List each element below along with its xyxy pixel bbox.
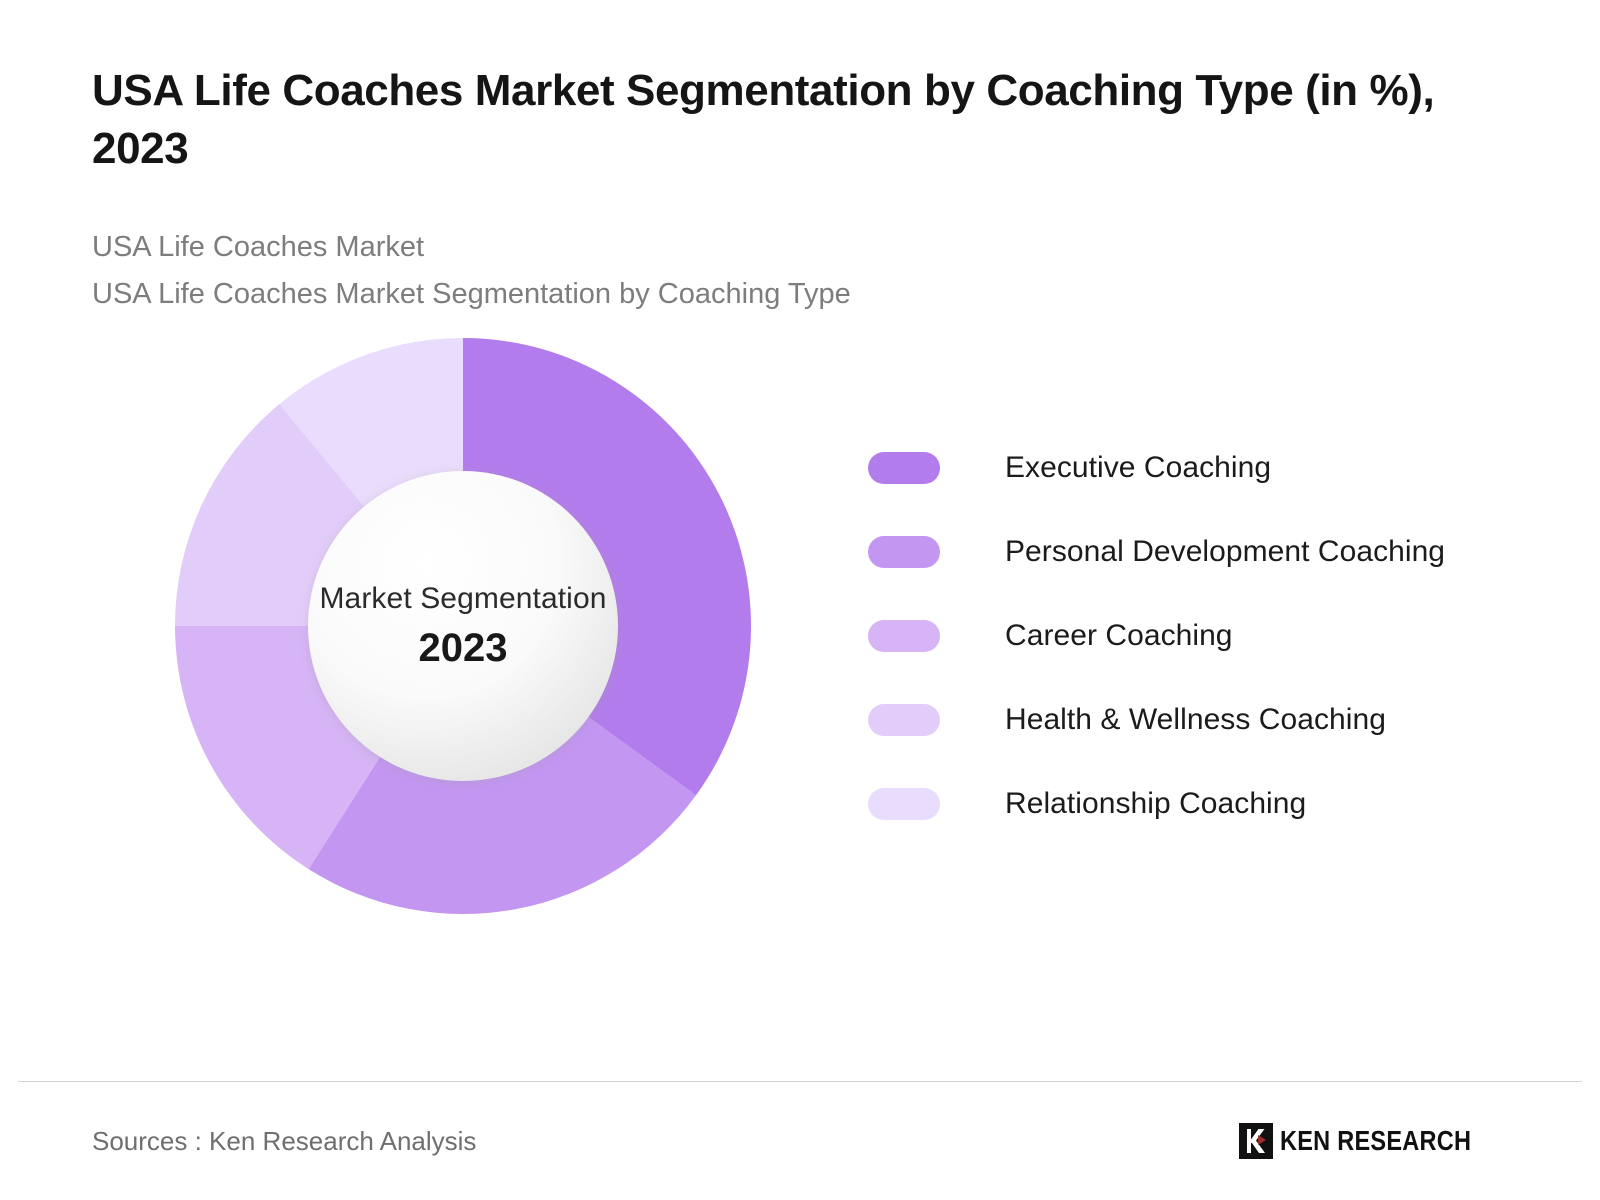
legend-label: Career Coaching — [1005, 619, 1233, 653]
page-title: USA Life Coaches Market Segmentation by … — [92, 62, 1492, 178]
legend-label: Executive Coaching — [1005, 451, 1271, 485]
logo-text: KEN RESEARCH — [1280, 1125, 1471, 1157]
legend-swatch-icon — [868, 452, 940, 484]
legend-label: Relationship Coaching — [1005, 787, 1306, 821]
legend-swatch-icon — [868, 704, 940, 736]
legend-swatch-icon — [868, 620, 940, 652]
legend-swatch-icon — [868, 536, 940, 568]
chart-page: USA Life Coaches Market Segmentation by … — [0, 0, 1600, 1200]
subtitle-line-1: USA Life Coaches Market — [92, 224, 1510, 271]
legend-swatch-icon — [868, 788, 940, 820]
donut-svg: Executive Coaching: 35%Personal Developm… — [175, 338, 751, 914]
header: USA Life Coaches Market Segmentation by … — [0, 0, 1600, 318]
footer: Sources : Ken Research Analysis KEN RESE… — [0, 1082, 1600, 1200]
subtitle-block: USA Life Coaches Market USA Life Coaches… — [92, 224, 1510, 318]
ken-research-logo: KEN RESEARCH — [1239, 1123, 1508, 1159]
chart-legend: Executive CoachingPersonal Development C… — [868, 426, 1445, 846]
legend-item[interactable]: Relationship Coaching — [868, 762, 1445, 846]
subtitle-line-2: USA Life Coaches Market Segmentation by … — [92, 271, 1510, 318]
legend-item[interactable]: Executive Coaching — [868, 426, 1445, 510]
logo-mark-svg — [1239, 1123, 1273, 1159]
sources-text: Sources : Ken Research Analysis — [92, 1126, 476, 1157]
legend-item[interactable]: Career Coaching — [868, 594, 1445, 678]
legend-label: Personal Development Coaching — [1005, 535, 1445, 569]
donut-hole — [308, 471, 618, 781]
legend-item[interactable]: Personal Development Coaching — [868, 510, 1445, 594]
logo-k-mark-icon — [1239, 1123, 1273, 1159]
legend-item[interactable]: Health & Wellness Coaching — [868, 678, 1445, 762]
donut-chart: Executive Coaching: 35%Personal Developm… — [175, 338, 751, 914]
legend-label: Health & Wellness Coaching — [1005, 703, 1386, 737]
chart-body: Executive Coaching: 35%Personal Developm… — [0, 318, 1600, 1081]
